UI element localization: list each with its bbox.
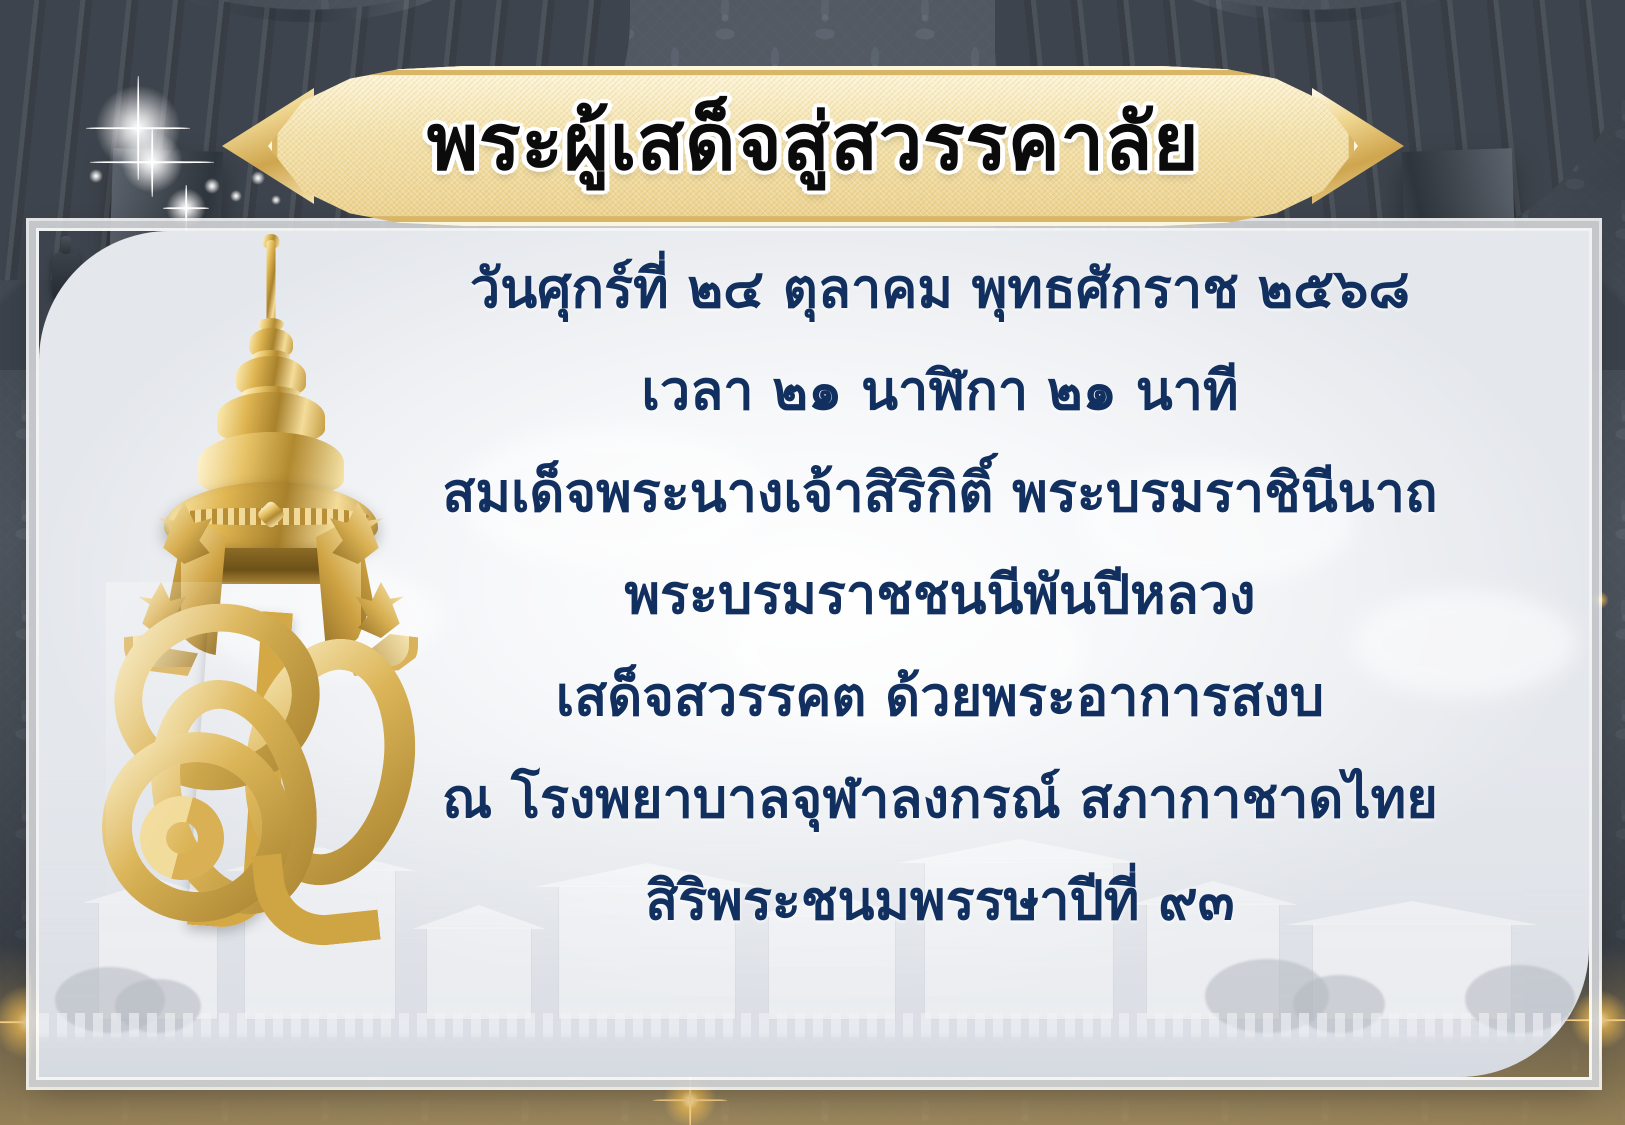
announcement-line-7: สิริพระชนมพรรษาปีที่ ๙๓ [380,874,1500,928]
announcement-text-block: วันศุกร์ที่ ๒๔ ตุลาคม พุทธศักราช ๒๕๖๘ เว… [380,262,1500,928]
ground-strip [39,1037,1589,1077]
announcement-line-3: สมเด็จพระนางเจ้าสิริกิติ์ พระบรมราชินีนา… [380,466,1500,520]
royal-crown-icon [156,232,386,612]
cypher-hook [251,844,380,952]
title-banner: พระผู้เสด็จสู่สวรรคาลัย [268,66,1358,226]
banner-title-text: พระผู้เสด็จสู่สวรรคาลัย [268,66,1358,226]
announcement-line-6: ณ โรงพยาบาลจุฬาลงกรณ์ สภากาชาดไทย [380,772,1500,826]
palace-building [427,927,531,1019]
announcement-line-4: พระบรมราชชนนีพันปีหลวง [380,568,1500,622]
announcement-card-canvas: พระผู้เสด็จสู่สวรรคาลัย วันศุกร์ที่ ๒๔ ต… [0,0,1625,1125]
announcement-line-1: วันศุกร์ที่ ๒๔ ตุลาคม พุทธศักราช ๒๕๖๘ [380,262,1500,316]
announcement-line-2: เวลา ๒๑ นาฬิกา ๒๑ นาที [380,364,1500,418]
crown-spire [267,240,276,328]
announcement-line-5: เสด็จสวรรคต ด้วยพระอาการสงบ [380,670,1500,724]
